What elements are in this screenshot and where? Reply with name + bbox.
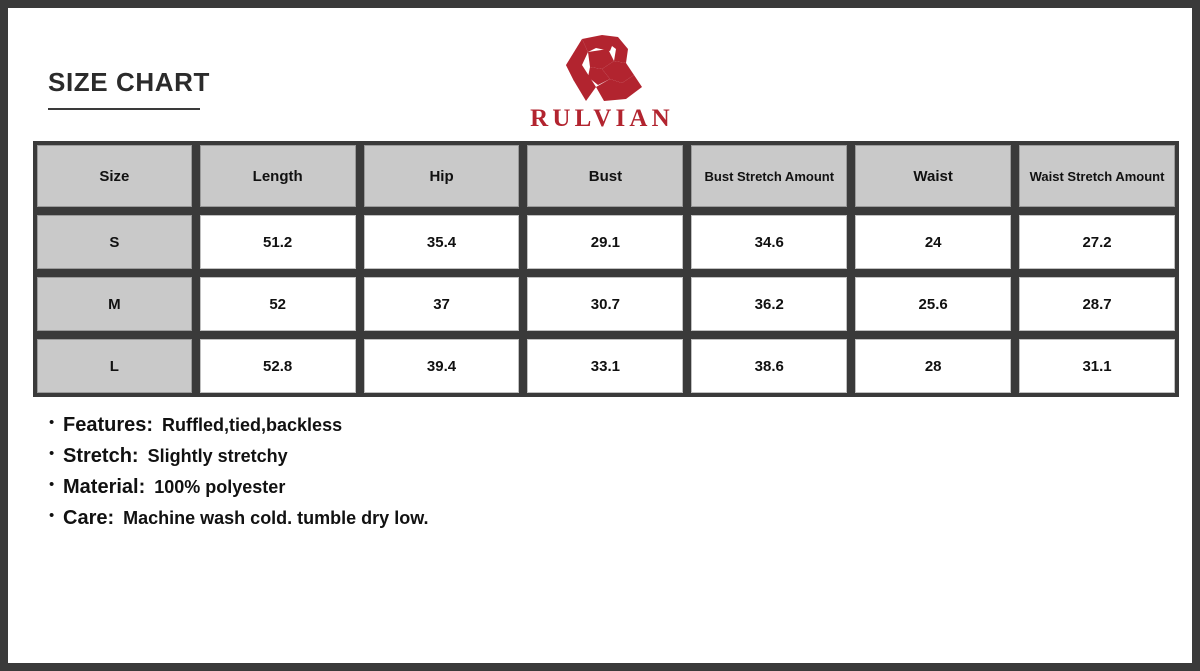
- list-item: • Care: Machine wash cold. tumble dry lo…: [49, 507, 1049, 530]
- detail-label-stretch: Stretch:: [63, 445, 139, 468]
- cell-waist-s: 24: [851, 211, 1015, 273]
- cell-size-m: M: [33, 273, 196, 335]
- list-item: • Stretch: Slightly stretchy: [49, 445, 1049, 468]
- detail-value-features: Ruffled,tied,backless: [153, 415, 342, 436]
- size-table: Size Length Hip Bust Bust Stretch Amount…: [33, 141, 1179, 397]
- cell-bust-stretch-m: 36.2: [687, 273, 851, 335]
- table-row: M 52 37 30.7 36.2 25.6 28.7: [33, 273, 1179, 335]
- cell-hip-m: 37: [360, 273, 524, 335]
- bullet-icon: •: [49, 477, 63, 492]
- column-header-waist-stretch-amount: Waist Stretch Amount: [1015, 141, 1179, 211]
- cell-size-l: L: [33, 335, 196, 397]
- detail-value-material: 100% polyester: [145, 477, 285, 498]
- column-header-hip: Hip: [360, 141, 524, 211]
- cell-waist-stretch-s: 27.2: [1015, 211, 1179, 273]
- cell-length-m: 52: [196, 273, 360, 335]
- detail-label-features: Features:: [63, 414, 153, 437]
- cell-waist-l: 28: [851, 335, 1015, 397]
- list-item: • Material: 100% polyester: [49, 476, 1049, 499]
- page-header: SIZE CHART RULVIAN: [11, 11, 1189, 133]
- detail-value-stretch: Slightly stretchy: [139, 446, 288, 467]
- detail-label-material: Material:: [63, 476, 145, 499]
- rulvian-r-monogram-icon: [552, 35, 648, 101]
- list-item: • Features: Ruffled,tied,backless: [49, 414, 1049, 437]
- brand-wordmark: RULVIAN: [526, 106, 674, 131]
- detail-label-care: Care:: [63, 507, 114, 530]
- cell-bust-s: 29.1: [523, 211, 687, 273]
- column-header-bust: Bust: [523, 141, 687, 211]
- cell-hip-l: 39.4: [360, 335, 524, 397]
- brand-logo: RULVIAN: [11, 35, 1189, 131]
- table-row: S 51.2 35.4 29.1 34.6 24 27.2: [33, 211, 1179, 273]
- size-table-container: Size Length Hip Bust Bust Stretch Amount…: [33, 141, 1179, 397]
- cell-bust-stretch-s: 34.6: [687, 211, 851, 273]
- table-header-row: Size Length Hip Bust Bust Stretch Amount…: [33, 141, 1179, 211]
- bullet-icon: •: [49, 415, 63, 430]
- column-header-bust-stretch-amount: Bust Stretch Amount: [687, 141, 851, 211]
- cell-size-s: S: [33, 211, 196, 273]
- cell-bust-l: 33.1: [523, 335, 687, 397]
- bullet-icon: •: [49, 508, 63, 523]
- cell-length-s: 51.2: [196, 211, 360, 273]
- product-details-list: • Features: Ruffled,tied,backless • Stre…: [49, 414, 1049, 538]
- cell-length-l: 52.8: [196, 335, 360, 397]
- cell-bust-m: 30.7: [523, 273, 687, 335]
- cell-bust-stretch-l: 38.6: [687, 335, 851, 397]
- column-header-waist: Waist: [851, 141, 1015, 211]
- cell-hip-s: 35.4: [360, 211, 524, 273]
- page-inner-frame: SIZE CHART RULVIAN: [8, 8, 1192, 663]
- cell-waist-m: 25.6: [851, 273, 1015, 335]
- cell-waist-stretch-m: 28.7: [1015, 273, 1179, 335]
- column-header-size: Size: [33, 141, 196, 211]
- bullet-icon: •: [49, 446, 63, 461]
- cell-waist-stretch-l: 31.1: [1015, 335, 1179, 397]
- table-row: L 52.8 39.4 33.1 38.6 28 31.1: [33, 335, 1179, 397]
- column-header-length: Length: [196, 141, 360, 211]
- detail-value-care: Machine wash cold. tumble dry low.: [114, 508, 428, 529]
- size-chart-page: SIZE CHART RULVIAN: [0, 0, 1200, 671]
